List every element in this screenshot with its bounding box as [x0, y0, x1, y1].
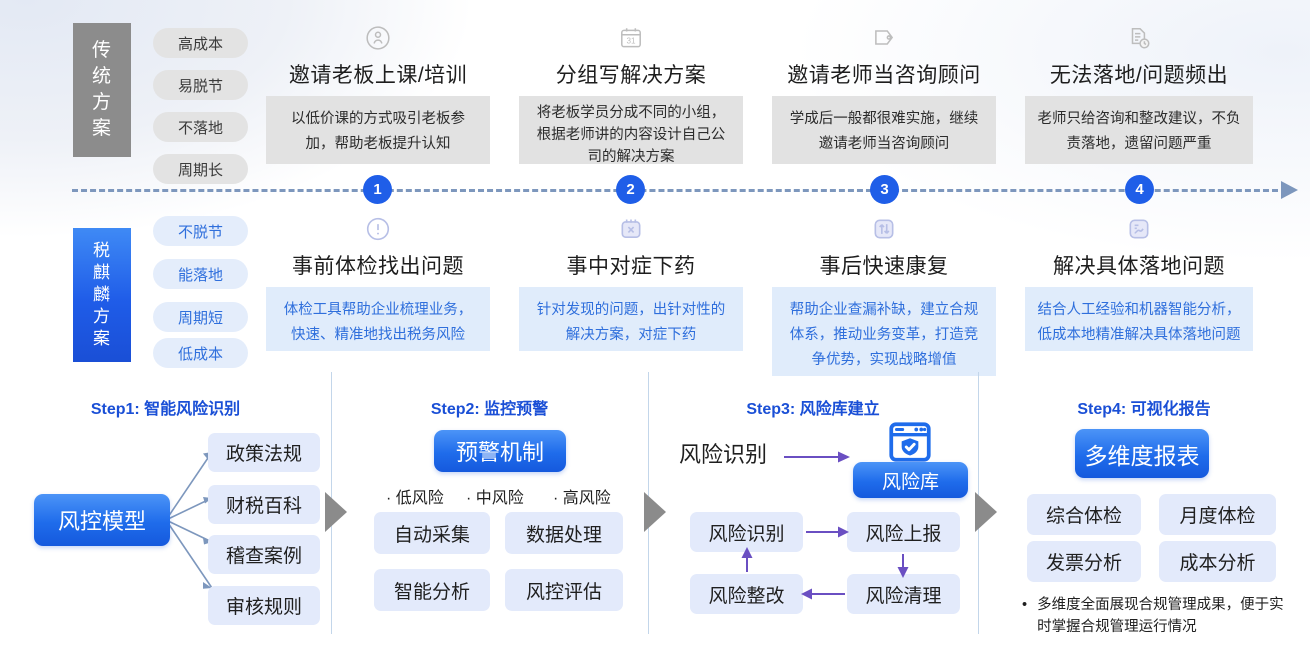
card-title: 解决具体落地问题 [1025, 250, 1253, 280]
shield-window-icon [884, 417, 936, 467]
card-title: 事后快速康复 [772, 250, 996, 280]
step1-branch-1[interactable]: 政策法规 [208, 433, 320, 472]
step4-tile-3[interactable]: 发票分析 [1027, 541, 1141, 582]
side-label-char: 案 [93, 328, 111, 350]
bullet-icon: · [466, 490, 471, 507]
card-body: 以低价课的方式吸引老板参加，帮助老板提升认知 [266, 96, 490, 164]
step3-heading: Step3: 风险库建立 [648, 395, 978, 419]
card-title: 事前体检找出问题 [266, 250, 490, 280]
card-body: 学成后一般都很难实施，继续邀请老师当咨询顾问 [772, 96, 996, 164]
bullet-icon: · [553, 490, 558, 507]
side-label-char: 麟 [93, 284, 111, 306]
card-body: 结合人工经验和机器智能分析，低成本地精准解决具体落地问题 [1025, 287, 1253, 351]
traditional-pill-1: 高成本 [153, 28, 248, 58]
step2-tile-1[interactable]: 自动采集 [374, 512, 490, 554]
traditional-card-1: 邀请老板上课/培训 以低价课的方式吸引老板参加，帮助老板提升认知 [266, 22, 490, 164]
step4-note: • 多维度全面展现合规管理成果，便于实时掌握合规管理运行情况 [1022, 594, 1292, 638]
card-title: 邀请老板上课/培训 [266, 59, 490, 89]
taxqilin-card-2: 事中对症下药 针对发现的问题，出针对性的解决方案，对症下药 [519, 213, 743, 351]
bullet-icon: • [1022, 594, 1027, 638]
analytics-icon [1123, 213, 1155, 245]
card-body: 将老板学员分成不同的小组，根据老师讲的内容设计自己公司的解决方案 [519, 96, 743, 164]
section-arrow-2-icon [644, 492, 666, 532]
taxqilin-card-3: 事后快速康复 帮助企业查漏补缺，建立合规体系，推动业务变革，打造竞争优势，实现战… [772, 213, 996, 376]
document-clock-icon [1123, 22, 1155, 54]
traditional-pill-4: 周期长 [153, 154, 248, 184]
step4-tile-1[interactable]: 综合体检 [1027, 494, 1141, 535]
step1-branch-3[interactable]: 稽查案例 [208, 535, 320, 574]
timeline-arrow-icon [1281, 181, 1298, 199]
step2-tile-2[interactable]: 数据处理 [505, 512, 623, 554]
step4-tile-2[interactable]: 月度体检 [1159, 494, 1276, 535]
side-label-char: 案 [92, 116, 112, 142]
traditional-pill-3: 不落地 [153, 112, 248, 142]
step2-tile-3[interactable]: 智能分析 [374, 569, 490, 611]
taxqilin-pill-3: 周期短 [153, 302, 248, 332]
calendar-x-icon [615, 213, 647, 245]
risk-label: 高风险 [563, 490, 611, 507]
timeline-node-1[interactable]: 1 [363, 175, 392, 204]
side-label-char: 方 [92, 90, 112, 116]
taxqilin-card-4: 解决具体落地问题 结合人工经验和机器智能分析，低成本地精准解决具体落地问题 [1025, 213, 1253, 351]
timeline-node-2[interactable]: 2 [616, 175, 645, 204]
calendar-31-icon: 31 [615, 22, 647, 54]
step1-heading: Step1: 智能风险识别 [0, 395, 331, 419]
step2-tile-4[interactable]: 风控评估 [505, 569, 623, 611]
step2-risk-mid: · 中风险 [466, 484, 524, 508]
traditional-card-4: 无法落地/问题频出 老师只给咨询和整改建议，不负责落地，遗留问题严重 [1025, 22, 1253, 164]
warning-mechanism-node[interactable]: 预警机制 [434, 430, 566, 472]
step2-heading: Step2: 监控预警 [331, 395, 648, 419]
taxqilin-pill-2: 能落地 [153, 259, 248, 289]
card-body: 体检工具帮助企业梳理业务，快速、精准地找出税务风险 [266, 287, 490, 351]
section-arrow-1-icon [325, 492, 347, 532]
side-label-char: 税 [93, 240, 111, 262]
tag-icon [868, 22, 900, 54]
timeline-node-4[interactable]: 4 [1125, 175, 1154, 204]
step4-tile-4[interactable]: 成本分析 [1159, 541, 1276, 582]
card-body: 针对发现的问题，出针对性的解决方案，对症下药 [519, 287, 743, 351]
traditional-card-3: 邀请老师当咨询顾问 学成后一般都很难实施，继续邀请老师当咨询顾问 [772, 22, 996, 164]
traditional-card-2: 31 分组写解决方案 将老板学员分成不同的小组，根据老师讲的内容设计自己公司的解… [519, 22, 743, 164]
card-body: 老师只给咨询和整改建议，不负责落地，遗留问题严重 [1025, 96, 1253, 164]
exclamation-circle-icon [362, 213, 394, 245]
card-body: 帮助企业查漏补缺，建立合规体系，推动业务变革，打造竞争优势，实现战略增值 [772, 287, 996, 376]
risk-model-node[interactable]: 风控模型 [34, 494, 170, 546]
card-title: 事中对症下药 [519, 250, 743, 280]
step3-source-arrow-icon [784, 450, 852, 464]
section-arrow-3-icon [975, 492, 997, 532]
traditional-pill-2: 易脱节 [153, 70, 248, 100]
side-label-char: 传 [92, 38, 112, 64]
step2-risk-low: · 低风险 [386, 484, 444, 508]
timeline-node-3[interactable]: 3 [870, 175, 899, 204]
bullet-icon: · [386, 490, 391, 507]
side-label-char: 统 [92, 64, 112, 90]
card-title: 分组写解决方案 [519, 59, 743, 89]
step1-branch-2[interactable]: 财税百科 [208, 485, 320, 524]
traditional-side-label: 传 统 方 案 [73, 23, 131, 157]
step3-source-label: 风险识别 [679, 437, 767, 469]
card-title: 无法落地/问题频出 [1025, 59, 1253, 89]
user-circle-icon [362, 22, 394, 54]
svg-text:31: 31 [626, 36, 636, 45]
side-label-char: 方 [93, 306, 111, 328]
side-label-char: 麒 [93, 262, 111, 284]
infographic-canvas: 传 统 方 案 高成本 易脱节 不落地 周期长 邀请老板上课/培训 以低价课的方… [0, 0, 1310, 650]
timeline-track [72, 189, 1278, 192]
taxqilin-pill-1: 不脱节 [153, 216, 248, 246]
step4-heading: Step4: 可视化报告 [978, 395, 1310, 419]
risk-label: 中风险 [476, 490, 524, 507]
step1-branch-4[interactable]: 审核规则 [208, 586, 320, 625]
multi-dimension-report-node[interactable]: 多维度报表 [1075, 429, 1209, 478]
risk-label: 低风险 [396, 490, 444, 507]
step2-risk-high: · 高风险 [553, 484, 611, 508]
taxqilin-side-label: 税 麒 麟 方 案 [73, 228, 131, 362]
step4-note-text: 多维度全面展现合规管理成果，便于实时掌握合规管理运行情况 [1037, 594, 1292, 638]
taxqilin-card-1: 事前体检找出问题 体检工具帮助企业梳理业务，快速、精准地找出税务风险 [266, 213, 490, 351]
risk-library-node[interactable]: 风险库 [853, 462, 968, 498]
updown-arrows-icon [868, 213, 900, 245]
step3-cycle-arrows [690, 505, 970, 620]
card-title: 邀请老师当咨询顾问 [772, 59, 996, 89]
taxqilin-pill-4: 低成本 [153, 338, 248, 368]
